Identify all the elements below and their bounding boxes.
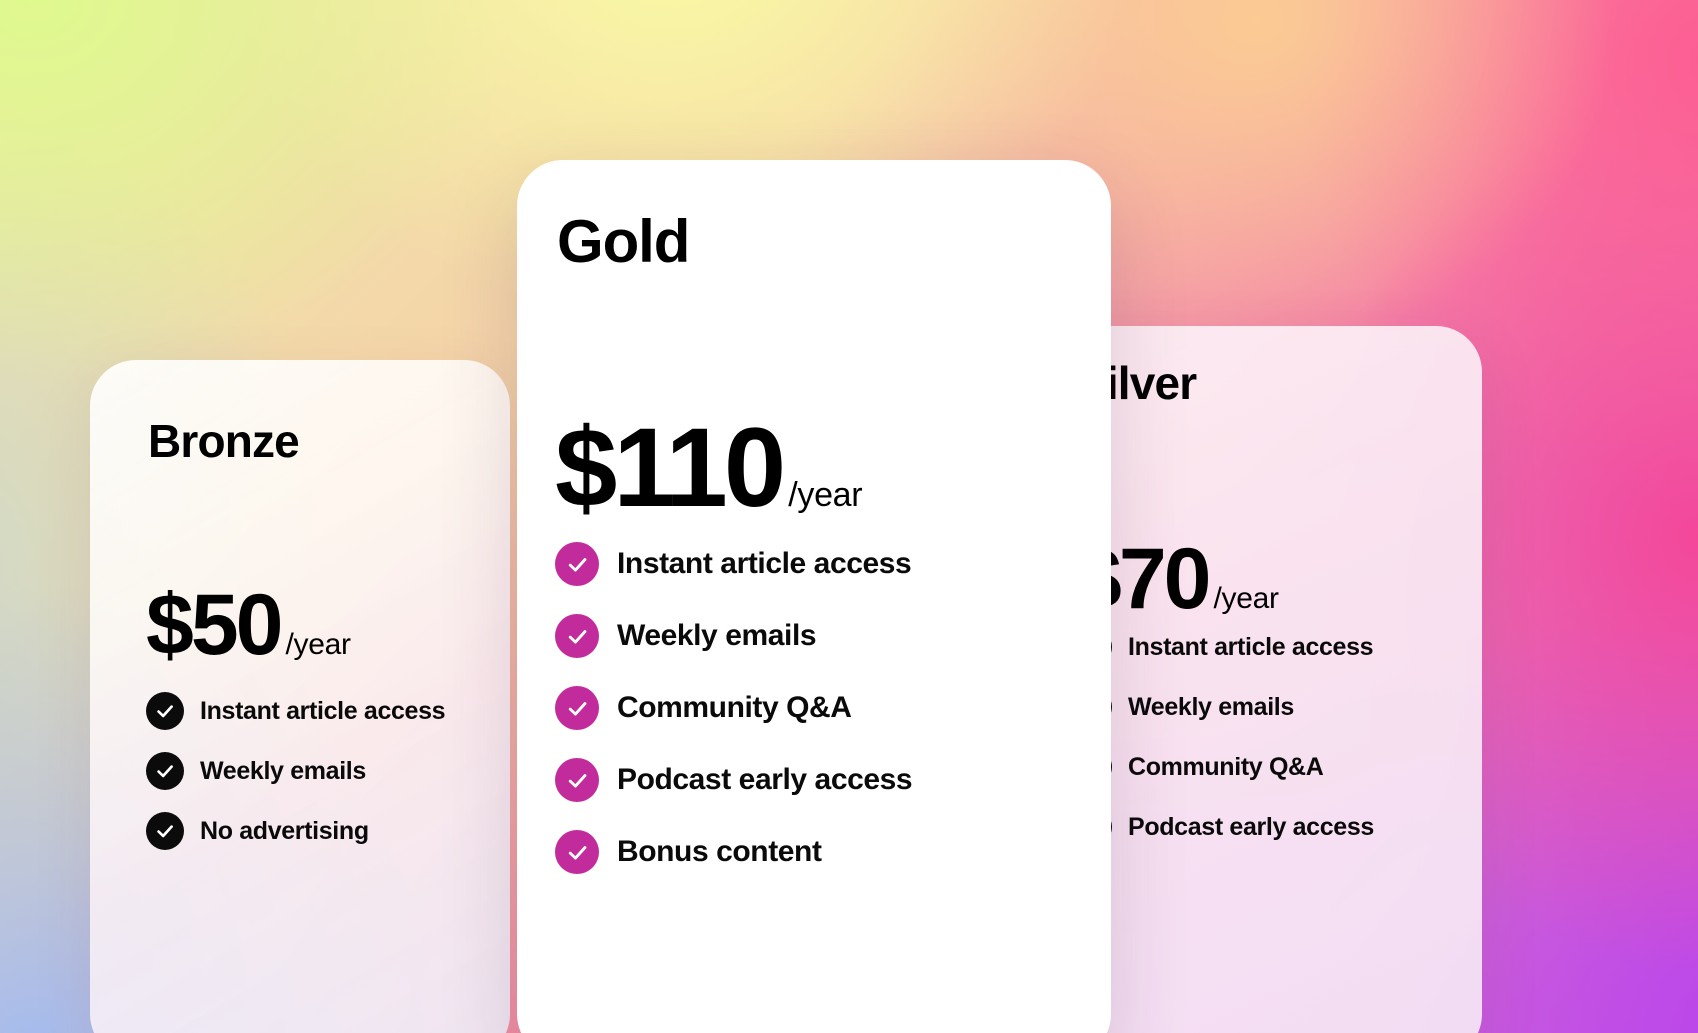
feature-label: Community Q&A — [617, 693, 852, 723]
feature-item: Weekly emails — [555, 614, 912, 658]
feature-label: Instant article access — [200, 699, 445, 724]
feature-item: No advertising — [146, 812, 445, 850]
price-amount-gold: $110 — [555, 412, 782, 524]
check-circle-icon — [555, 758, 599, 802]
plan-title-gold: Gold — [557, 212, 689, 272]
feature-item: Instant article access — [555, 542, 912, 586]
price-amount-bronze: $50 — [146, 582, 280, 668]
feature-label: Bonus content — [617, 837, 822, 867]
check-circle-icon — [146, 692, 184, 730]
feature-label: Community Q&A — [1128, 755, 1323, 780]
check-circle-icon — [555, 686, 599, 730]
feature-label: Weekly emails — [200, 759, 366, 784]
feature-item: Weekly emails — [1074, 688, 1374, 726]
feature-list-silver: Instant article access Weekly emails Com… — [1074, 628, 1374, 846]
feature-label: Podcast early access — [617, 765, 912, 795]
feature-item: Community Q&A — [1074, 748, 1374, 786]
feature-item: Bonus content — [555, 830, 912, 874]
check-circle-icon — [146, 812, 184, 850]
pricing-page: Bronze $50 /year Instant article access — [0, 0, 1698, 1033]
feature-list-gold: Instant article access Weekly emails Com… — [555, 542, 912, 874]
feature-label: Weekly emails — [1128, 695, 1294, 720]
feature-item: Podcast early access — [1074, 808, 1374, 846]
price-bronze: $50 /year — [146, 582, 351, 668]
feature-item: Instant article access — [1074, 628, 1374, 666]
check-circle-icon — [555, 830, 599, 874]
pricing-card-gold[interactable]: Gold $110 /year Instant article access — [517, 160, 1111, 1033]
feature-item: Community Q&A — [555, 686, 912, 730]
check-circle-icon — [146, 752, 184, 790]
feature-item: Instant article access — [146, 692, 445, 730]
feature-label: Instant article access — [617, 549, 911, 579]
price-period-gold: /year — [788, 478, 862, 512]
feature-item: Podcast early access — [555, 758, 912, 802]
pricing-card-bronze[interactable]: Bronze $50 /year Instant article access — [90, 360, 510, 1033]
price-period-silver: /year — [1213, 584, 1278, 614]
feature-label: Instant article access — [1128, 635, 1373, 660]
price-period-bronze: /year — [285, 630, 350, 660]
feature-label: Podcast early access — [1128, 815, 1374, 840]
plan-title-bronze: Bronze — [148, 418, 299, 464]
price-gold: $110 /year — [555, 412, 862, 524]
feature-label: Weekly emails — [617, 621, 816, 651]
check-circle-icon — [555, 542, 599, 586]
check-circle-icon — [555, 614, 599, 658]
feature-item: Weekly emails — [146, 752, 445, 790]
feature-list-bronze: Instant article access Weekly emails No … — [146, 692, 445, 850]
feature-label: No advertising — [200, 819, 369, 844]
